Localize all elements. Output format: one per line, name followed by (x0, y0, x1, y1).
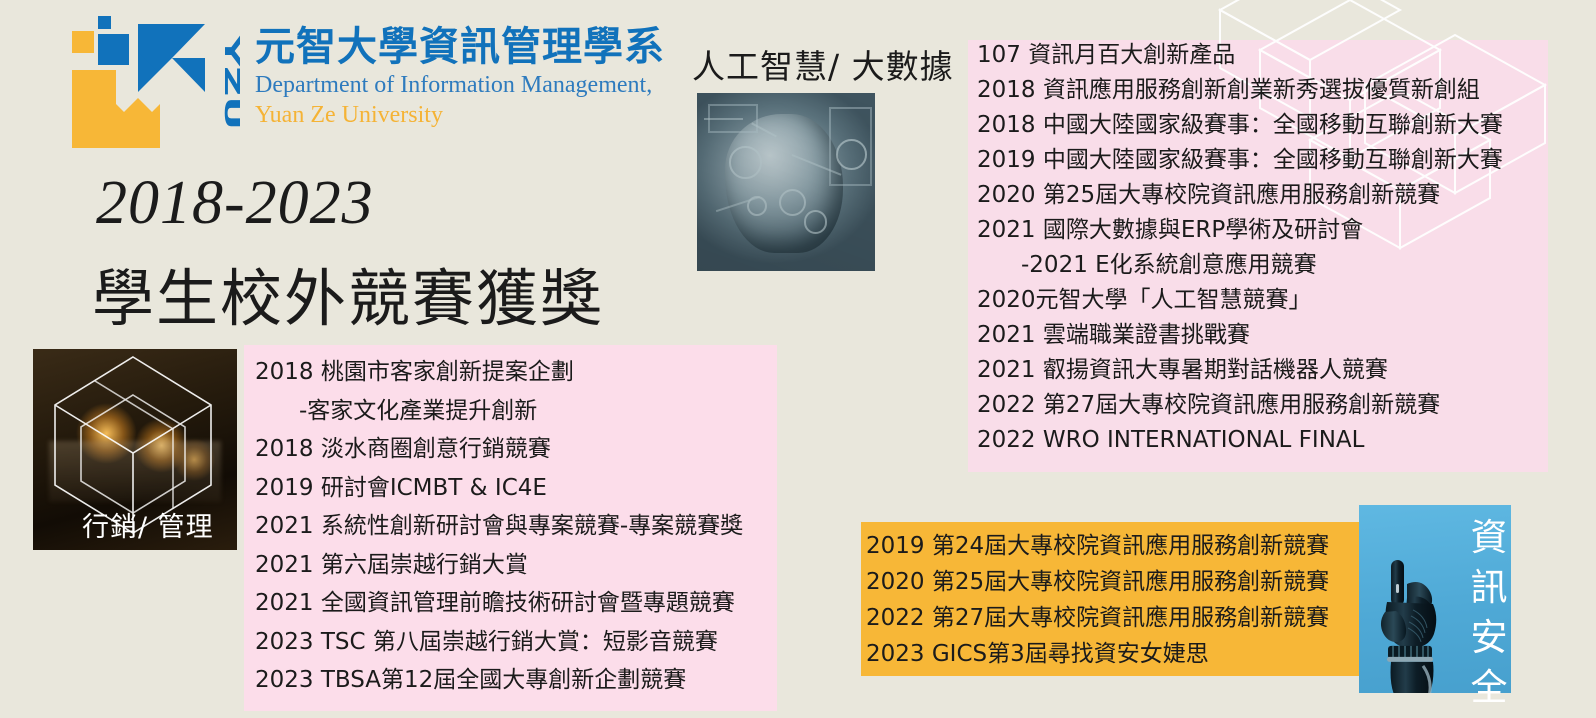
section-label-security: 資 訊 安 全 (1466, 513, 1512, 713)
logo-name-cn: 元智大學資訊管理學系 (255, 26, 705, 68)
section-label-marketing: 行銷/ 管理 (82, 505, 214, 544)
list-item: 2022 第27屆大專校院資訊應用服務創新競賽 (977, 388, 1503, 423)
ai-awards-list: 107 資訊月百大創新產品 2018 資訊應用服務創新創業新秀選拔優質新創組 2… (977, 38, 1503, 458)
logo-name-en-line1: Department of Information Management, (255, 70, 705, 100)
list-item: 2023 TBSA第12屆全國大專創新企劃競賽 (255, 661, 743, 700)
section-header-ai: 人工智慧/ 大數據 (692, 40, 954, 88)
list-item: 2021 國際大數據與ERP學術及研討會 (977, 213, 1503, 248)
security-awards-list: 2019 第24屆大專校院資訊應用服務創新競賽 2020 第25屆大專校院資訊應… (866, 528, 1329, 672)
list-item: 2020 第25屆大專校院資訊應用服務創新競賽 (977, 178, 1503, 213)
list-item: 2018 資訊應用服務創新創業新秀選拔優質新創組 (977, 73, 1503, 108)
list-item: 2019 第24屆大專校院資訊應用服務創新競賽 (866, 528, 1329, 564)
list-item: 2021 叡揚資訊大專暑期對話機器人競賽 (977, 353, 1503, 388)
cyborg-face-image (697, 93, 875, 271)
department-logo: YZU 元智大學資訊管理學系 Department of Information… (62, 12, 662, 152)
list-item: 2021 第六屆崇越行銷大賞 (255, 546, 743, 585)
list-item: 2022 WRO INTERNATIONAL FINAL (977, 423, 1503, 458)
security-label-char: 全 (1466, 663, 1512, 713)
list-item: -客家文化產業提升創新 (255, 392, 743, 431)
security-label-char: 訊 (1466, 563, 1512, 613)
list-item: 2019 研討會ICMBT & IC4E (255, 469, 743, 508)
logo-wordmark: 元智大學資訊管理學系 Department of Information Man… (255, 26, 705, 130)
marketing-awards-list: 2018 桃園市客家創新提案企劃 -客家文化產業提升創新 2018 淡水商圈創意… (255, 353, 743, 700)
list-item: 2022 第27屆大專校院資訊應用服務創新競賽 (866, 600, 1329, 636)
title-year-range: 2018-2023 (96, 168, 374, 239)
list-item: 2018 淡水商圈創意行銷競賽 (255, 430, 743, 469)
list-item: 2023 GICS第3屆尋找資安女婕思 (866, 636, 1329, 672)
list-item: 2021 全國資訊管理前瞻技術研討會暨專題競賽 (255, 584, 743, 623)
security-label-char: 安 (1466, 613, 1512, 663)
list-item: 2023 TSC 第八屆崇越行銷大賞：短影音競賽 (255, 623, 743, 662)
list-item: 2021 系統性創新研討會與專案競賽-專案競賽獎 (255, 507, 743, 546)
list-item: 2018 中國大陸國家級賽事：全國移動互聯創新大賽 (977, 108, 1503, 143)
logo-vertical-yzu: YZU (220, 34, 244, 130)
robotic-hand-graphic (1377, 554, 1453, 693)
list-item: 2019 中國大陸國家級賽事：全國移動互聯創新大賽 (977, 143, 1503, 178)
list-item: 2018 桃園市客家創新提案企劃 (255, 353, 743, 392)
page-title: 學生校外競賽獲獎 (92, 248, 604, 338)
list-item: -2021 E化系統創意應用競賽 (977, 248, 1503, 283)
list-item: 2020 第25屆大專校院資訊應用服務創新競賽 (866, 564, 1329, 600)
list-item: 107 資訊月百大創新產品 (977, 38, 1503, 73)
list-item: 2020元智大學「人工智慧競賽」 (977, 283, 1503, 318)
security-label-char: 資 (1466, 513, 1512, 563)
awards-poster: YZU 元智大學資訊管理學系 Department of Information… (0, 0, 1596, 718)
list-item: 2021 雲端職業證書挑戰賽 (977, 318, 1503, 353)
logo-name-en-line2: Yuan Ze University (255, 100, 705, 130)
yzu-im-logo-mark: YZU (62, 12, 247, 152)
